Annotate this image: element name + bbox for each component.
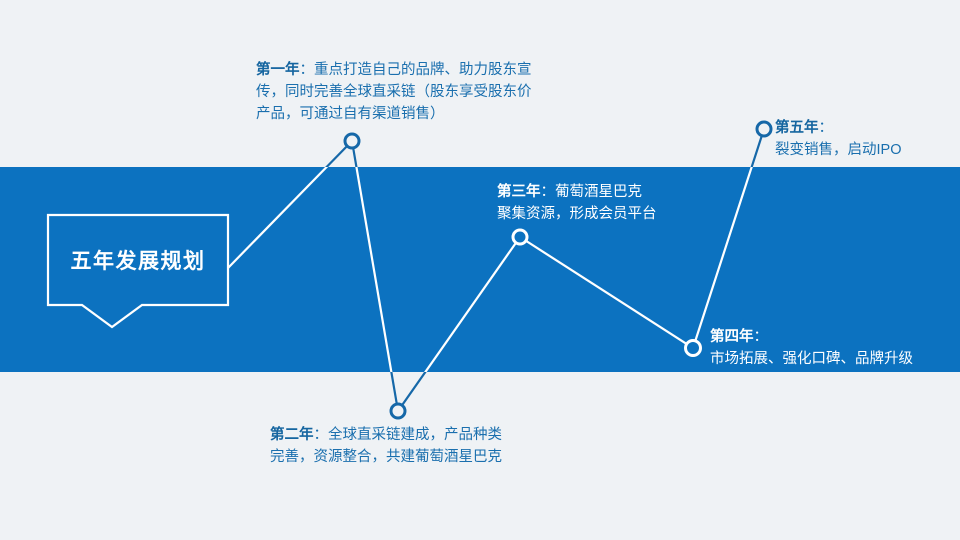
milestone-label-lead: 第三年 <box>497 184 541 200</box>
milestone-label-lead: 第二年 <box>270 427 314 443</box>
milestone-label-year-4: 第四年： 市场拓展、强化口碑、品牌升级 <box>710 327 960 371</box>
milestone-label-lead: 第四年 <box>710 329 754 345</box>
milestone-label-year-1: 第一年：重点打造自己的品牌、助力股东宣 传，同时完善全球直采链（股东享受股东价 … <box>256 60 586 125</box>
milestone-label-lead: 第五年 <box>775 120 819 136</box>
milestone-label-year-2: 第二年：全球直采链建成，产品种类 完善，资源整合，共建葡萄酒星巴克 <box>270 425 570 469</box>
page-title: 五年发展规划 <box>48 215 228 305</box>
slide-canvas: 五年发展规划 第一年：重点打造自己的品牌、助力股东宣 传，同时完善全球直采链（股… <box>0 0 960 540</box>
milestone-label-year-3: 第三年：葡萄酒星巴克 聚集资源，形成会员平台 <box>497 182 717 226</box>
milestone-label-year-5: 第五年： 裂变销售，启动IPO <box>775 118 955 162</box>
milestone-label-lead: 第一年 <box>256 62 300 78</box>
